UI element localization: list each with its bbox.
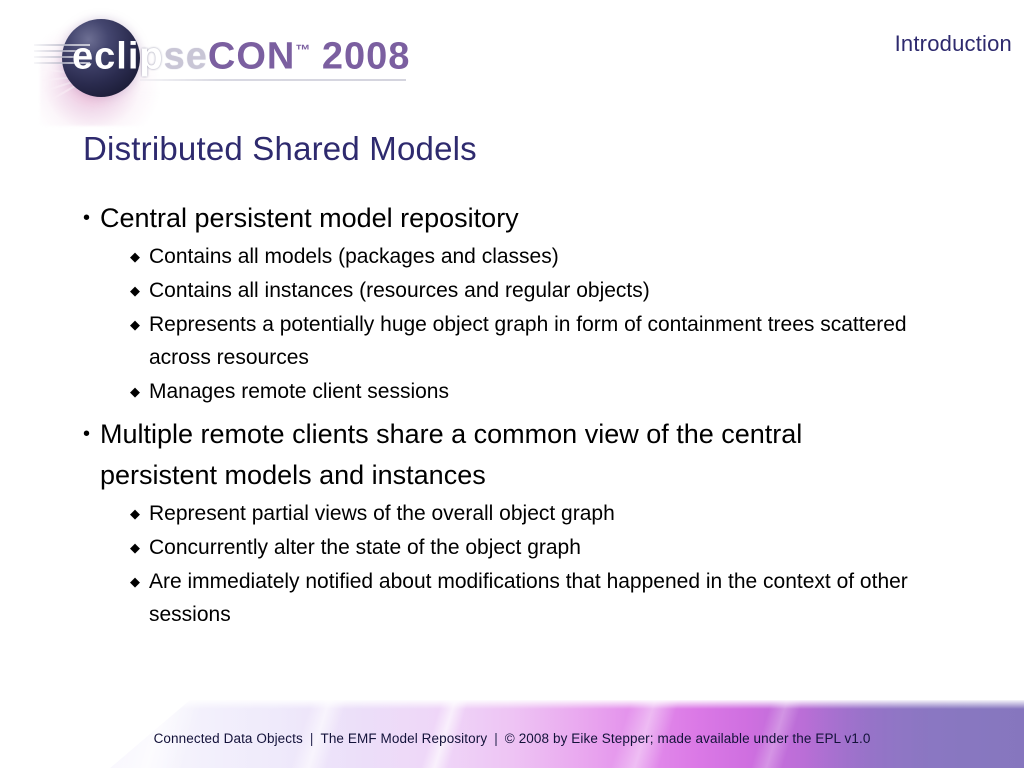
bullet-text: Are immediately notified about modificat…	[149, 565, 963, 631]
diamond-bullet-icon: ◆	[130, 240, 149, 273]
bullet-level1: • Multiple remote clients share a common…	[83, 414, 963, 496]
presentation-slide: eclipseCON™ 2008 Introduction Distribute…	[0, 0, 1024, 768]
logo-eclip-text: eclip	[72, 36, 164, 78]
footer-separator: |	[487, 731, 505, 746]
trademark-icon: ™	[295, 42, 310, 59]
bullet-text: Represents a potentially huge object gra…	[149, 308, 963, 374]
bullet-text: Contains all models (packages and classe…	[149, 240, 963, 273]
bullet-text: Multiple remote clients share a common v…	[100, 414, 900, 496]
header-topic-label: Introduction	[895, 31, 1012, 57]
bullet-marker-icon: •	[83, 414, 100, 496]
bullet-marker-icon: •	[83, 198, 100, 239]
slide-footer: Connected Data Objects|The EMF Model Rep…	[0, 700, 1024, 768]
bullet-text: Represent partial views of the overall o…	[149, 497, 963, 530]
diamond-bullet-icon: ◆	[130, 308, 149, 374]
logo-con-text: CON	[208, 36, 295, 78]
footer-project-name: Connected Data Objects	[154, 731, 303, 746]
bullet-text: Central persistent model repository	[100, 198, 900, 239]
diamond-bullet-icon: ◆	[130, 274, 149, 307]
bullet-text: Manages remote client sessions	[149, 375, 963, 408]
page-title: Distributed Shared Models	[83, 130, 477, 168]
bullet-level2: ◆ Represents a potentially huge object g…	[130, 308, 963, 374]
bullet-level1: • Central persistent model repository	[83, 198, 963, 239]
diamond-bullet-icon: ◆	[130, 565, 149, 631]
eclipsecon-logo: eclipseCON™ 2008	[34, 14, 394, 98]
bullet-text: Contains all instances (resources and re…	[149, 274, 963, 307]
logo-se-text: se	[164, 36, 208, 78]
bullet-level2: ◆ Contains all models (packages and clas…	[130, 240, 963, 273]
bullet-level2: ◆ Concurrently alter the state of the ob…	[130, 531, 963, 564]
slide-body: • Central persistent model repository ◆ …	[83, 198, 963, 632]
footer-separator: |	[303, 731, 321, 746]
slide-header: eclipseCON™ 2008 Introduction	[0, 0, 1024, 108]
logo-year-text: 2008	[322, 36, 411, 78]
diamond-bullet-icon: ◆	[130, 531, 149, 564]
diamond-bullet-icon: ◆	[130, 497, 149, 530]
bullet-level2: ◆ Represent partial views of the overall…	[130, 497, 963, 530]
footer-subtitle: The EMF Model Repository	[320, 731, 487, 746]
footer-credits: Connected Data Objects|The EMF Model Rep…	[0, 700, 1024, 746]
logo-underline	[140, 79, 406, 81]
bullet-level2: ◆ Manages remote client sessions	[130, 375, 963, 408]
bullet-level2: ◆ Are immediately notified about modific…	[130, 565, 963, 631]
bullet-text: Concurrently alter the state of the obje…	[149, 531, 963, 564]
bullet-level2: ◆ Contains all instances (resources and …	[130, 274, 963, 307]
logo-wordmark: eclipseCON™ 2008	[72, 28, 410, 80]
footer-copyright: © 2008 by Eike Stepper; made available u…	[505, 731, 871, 746]
diamond-bullet-icon: ◆	[130, 375, 149, 408]
